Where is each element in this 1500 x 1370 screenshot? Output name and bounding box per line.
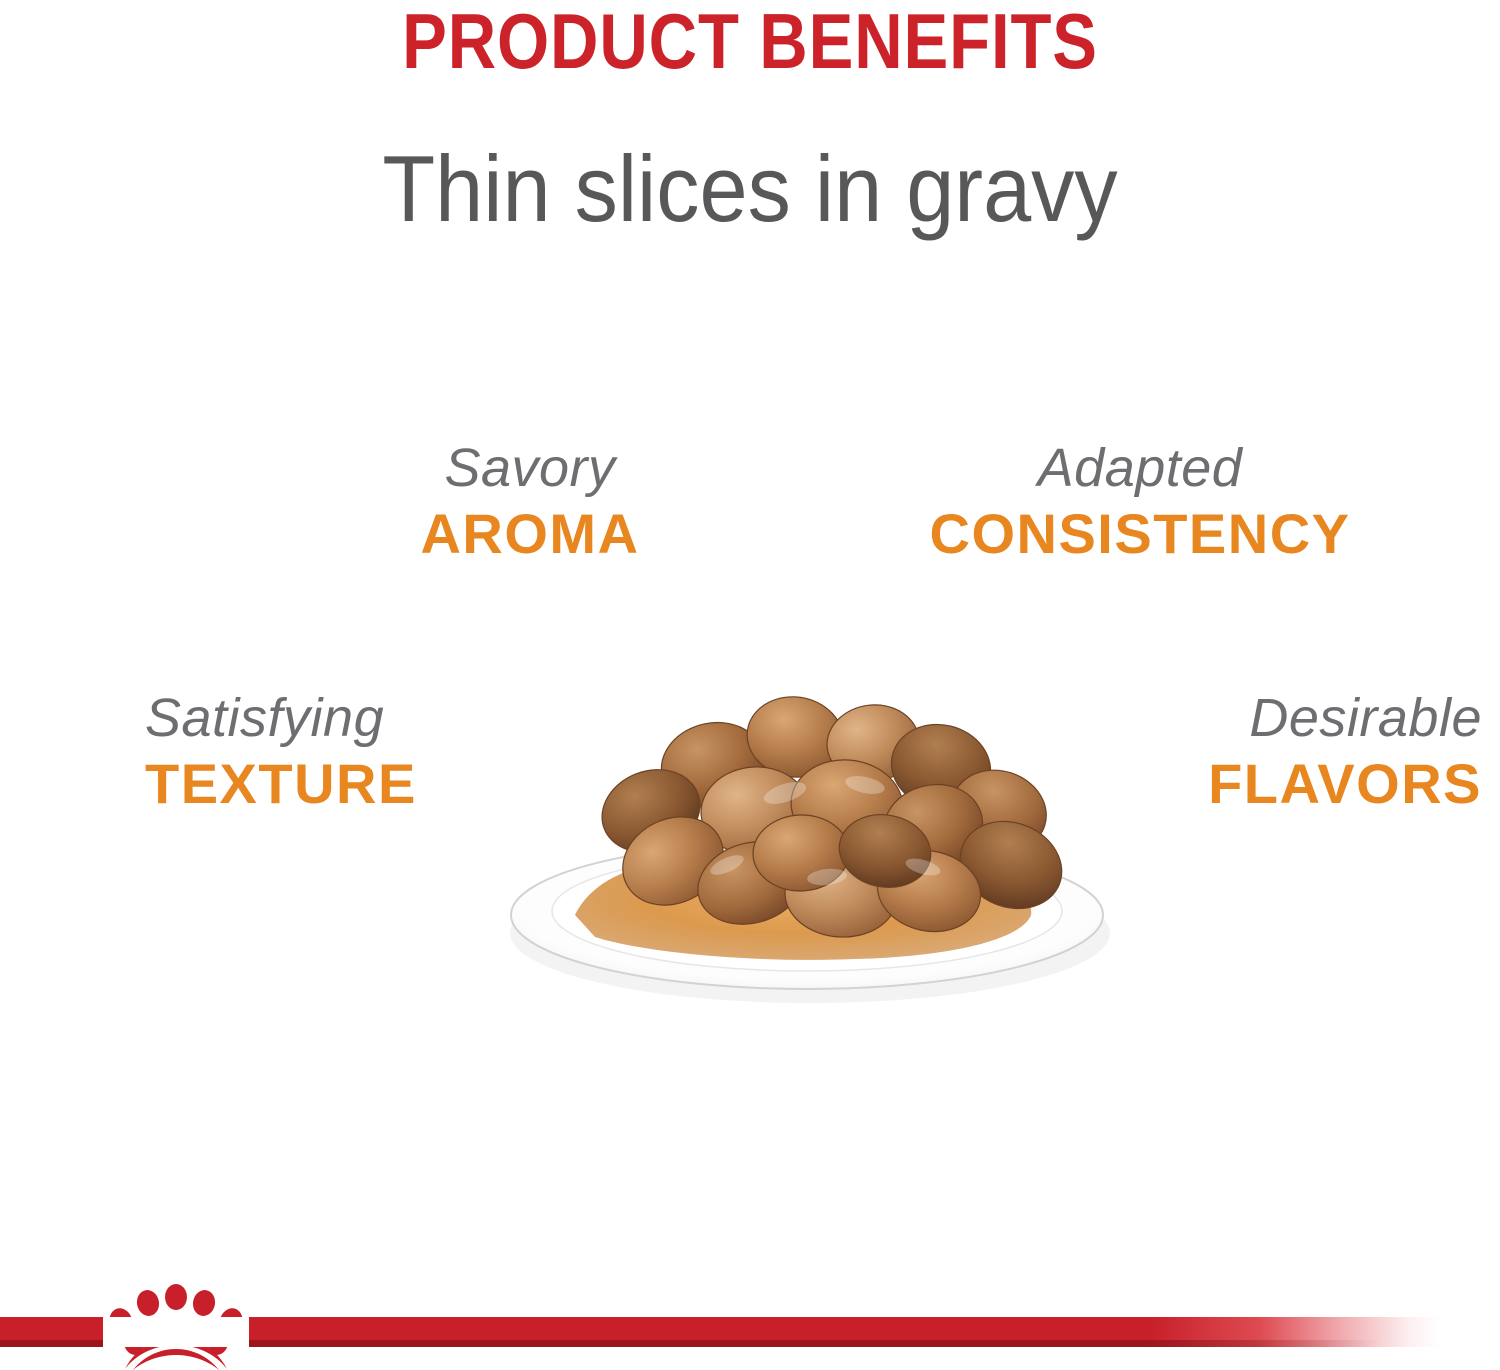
- benefit-consistency: Adapted CONSISTENCY: [900, 440, 1380, 563]
- product-benefits-panel: PRODUCT BENEFITS Thin slices in gravy Sa…: [0, 0, 1500, 1370]
- benefit-aroma-key: AROMA: [300, 505, 760, 564]
- crown-bar-notch: [103, 1317, 249, 1347]
- page-subtitle: Thin slices in gravy: [60, 140, 1440, 239]
- benefit-aroma: Savory AROMA: [300, 440, 760, 563]
- page-title: PRODUCT BENEFITS: [105, 2, 1395, 80]
- product-food-image: [455, 615, 1165, 1015]
- benefit-consistency-lead: Adapted: [900, 440, 1380, 497]
- benefit-aroma-lead: Savory: [300, 440, 760, 497]
- benefit-consistency-key: CONSISTENCY: [900, 505, 1380, 564]
